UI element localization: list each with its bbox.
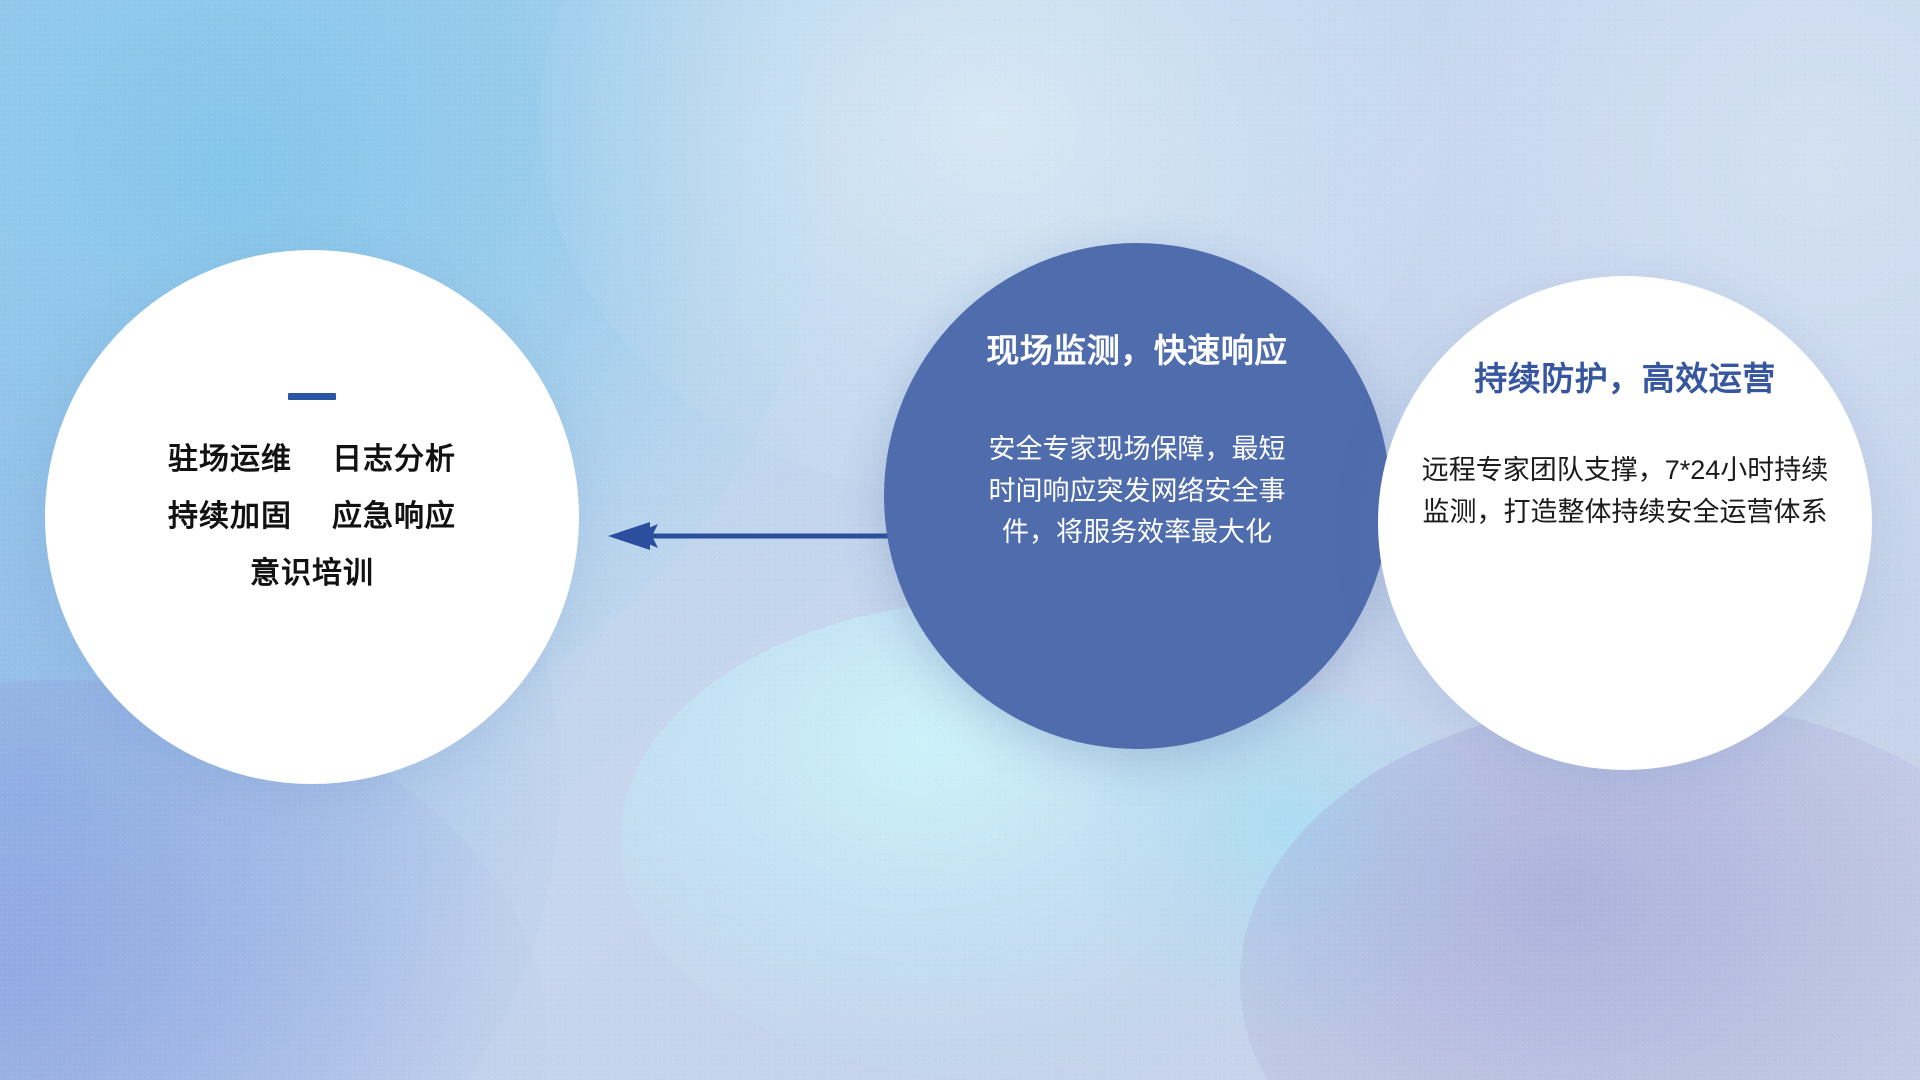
capability-item: 持续加固 <box>168 502 292 532</box>
capability-item: 应急响应 <box>332 502 456 532</box>
right-circle-body: 远程专家团队支撑，7*24小时持续监测，打造整体持续安全运营体系 <box>1415 450 1835 533</box>
capability-row: 持续加固 应急响应 <box>45 502 579 532</box>
middle-onsite-circle[interactable]: 现场监测，快速响应 安全专家现场保障，最短时间响应突发网络安全事件，将服务效率最… <box>884 243 1390 749</box>
left-arrow-icon <box>600 516 900 556</box>
right-operations-circle[interactable]: 持续防护，高效运营 远程专家团队支撑，7*24小时持续监测，打造整体持续安全运营… <box>1378 276 1872 770</box>
capability-item: 意识培训 <box>250 559 374 589</box>
capability-row: 意识培训 <box>45 559 579 589</box>
capability-item: 日志分析 <box>332 445 456 475</box>
horizontal-dash-icon <box>288 393 336 400</box>
left-capability-circle[interactable]: 驻场运维 日志分析 持续加固 应急响应 意识培训 <box>45 250 579 784</box>
middle-circle-title: 现场监测，快速响应 <box>986 334 1288 367</box>
middle-circle-body: 安全专家现场保障，最短时间响应突发网络安全事件，将服务效率最大化 <box>977 429 1297 554</box>
capability-row: 驻场运维 日志分析 <box>45 445 579 475</box>
slide-canvas: 驻场运维 日志分析 持续加固 应急响应 意识培训 现场监测，快速响应 安全专家现… <box>0 0 1920 1080</box>
capability-list: 驻场运维 日志分析 持续加固 应急响应 意识培训 <box>45 445 579 589</box>
capability-item: 驻场运维 <box>168 445 292 475</box>
right-circle-title: 持续防护，高效运营 <box>1474 362 1776 395</box>
